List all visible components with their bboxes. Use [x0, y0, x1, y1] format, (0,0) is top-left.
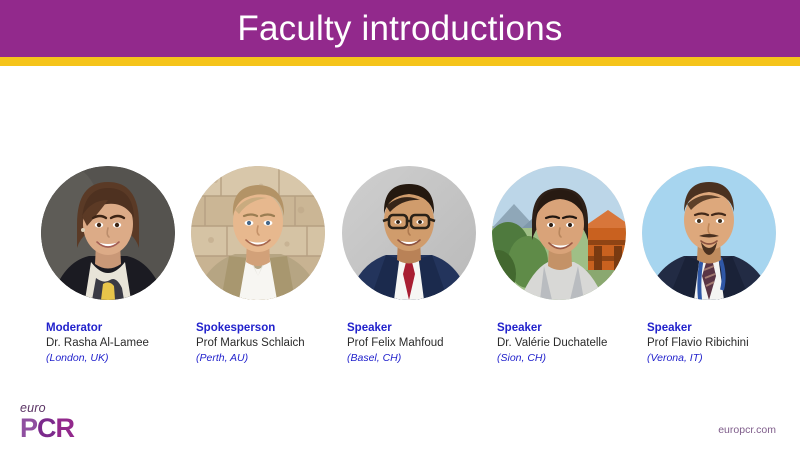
person-role: Speaker — [497, 321, 672, 336]
person-role: Speaker — [347, 321, 522, 336]
avatar — [342, 166, 476, 300]
person-name: Prof Flavio Ribichini — [647, 336, 800, 351]
avatar — [492, 166, 626, 300]
avatar — [191, 166, 325, 300]
person-city: (London, UK) — [46, 351, 221, 365]
person-info: Speaker Prof Flavio Ribichini (Verona, I… — [647, 321, 800, 365]
person-city: (Verona, IT) — [647, 351, 800, 365]
person-name: Dr. Valérie Duchatelle — [497, 336, 672, 351]
portrait-flavio-ribichini-icon — [642, 166, 776, 300]
footer-url[interactable]: europcr.com — [718, 424, 776, 436]
logo-pcr-text: PCR — [20, 415, 90, 442]
page-title: Faculty introductions — [0, 0, 800, 57]
faculty-card[interactable]: Speaker Prof Flavio Ribichini (Verona, I… — [642, 166, 776, 300]
portrait-valerie-duchatelle-icon — [492, 166, 626, 300]
person-name: Prof Markus Schlaich — [196, 336, 371, 351]
portrait-felix-mahfoud-icon — [342, 166, 476, 300]
person-info: Moderator Dr. Rasha Al-Lamee (London, UK… — [46, 321, 221, 365]
person-role: Speaker — [647, 321, 800, 336]
europcr-logo: euro PCR — [20, 402, 90, 444]
logo-letter-p: P — [20, 413, 37, 443]
portrait-markus-schlaich-icon — [191, 166, 325, 300]
person-role: Spokesperson — [196, 321, 371, 336]
person-info: Speaker Prof Felix Mahfoud (Basel, CH) — [347, 321, 522, 365]
portrait-rasha-al-lamee-icon — [41, 166, 175, 300]
faculty-card[interactable]: Spokesperson Prof Markus Schlaich (Perth… — [191, 166, 325, 300]
person-city: (Perth, AU) — [196, 351, 371, 365]
person-info: Spokesperson Prof Markus Schlaich (Perth… — [196, 321, 371, 365]
person-name: Prof Felix Mahfoud — [347, 336, 522, 351]
header-accent-rule — [0, 57, 800, 66]
faculty-list: Moderator Dr. Rasha Al-Lamee (London, UK… — [41, 166, 765, 376]
faculty-card[interactable]: Speaker Prof Felix Mahfoud (Basel, CH) — [342, 166, 476, 300]
logo-letter-r: R — [56, 413, 75, 443]
person-city: (Basel, CH) — [347, 351, 522, 365]
faculty-card[interactable]: Moderator Dr. Rasha Al-Lamee (London, UK… — [41, 166, 175, 300]
person-name: Dr. Rasha Al-Lamee — [46, 336, 221, 351]
person-city: (Sion, CH) — [497, 351, 672, 365]
logo-letter-c: C — [37, 413, 56, 443]
person-role: Moderator — [46, 321, 221, 336]
faculty-card[interactable]: Speaker Dr. Valérie Duchatelle (Sion, CH… — [492, 166, 626, 300]
person-info: Speaker Dr. Valérie Duchatelle (Sion, CH… — [497, 321, 672, 365]
avatar — [642, 166, 776, 300]
avatar — [41, 166, 175, 300]
